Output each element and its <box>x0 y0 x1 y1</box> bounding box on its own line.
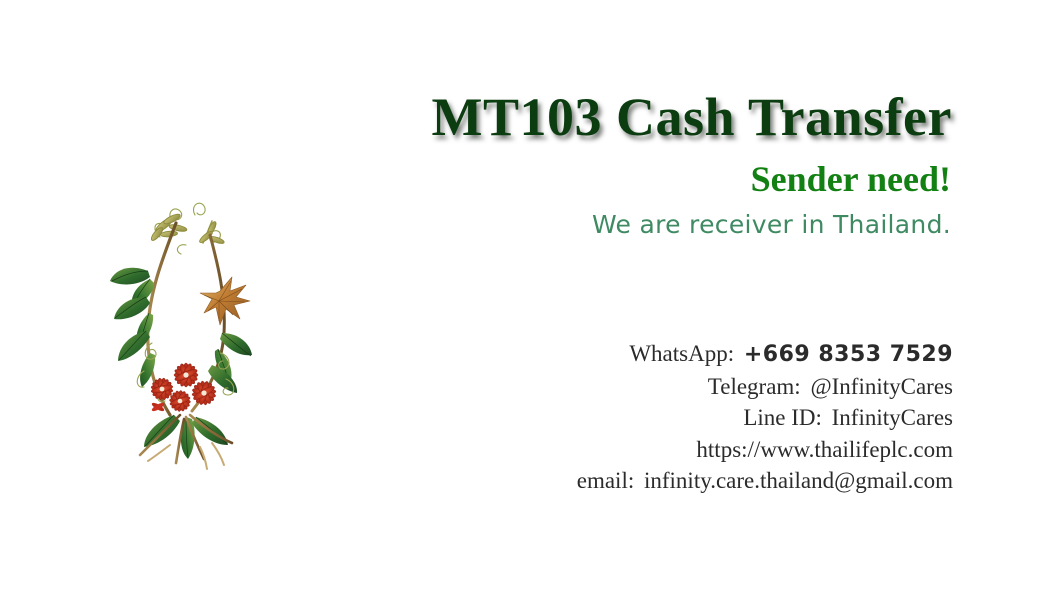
leaves-right <box>208 333 252 393</box>
page-subtitle: Sender need! <box>260 156 953 202</box>
page-tagline: We are receiver in Thailand. <box>260 208 953 242</box>
contact-line-whatsapp: WhatsApp: +669 8353 7529 <box>260 338 953 371</box>
flower <box>192 381 217 406</box>
text-block: MT103 Cash Transfer Sender need! We are … <box>260 86 953 497</box>
flower <box>174 363 199 388</box>
contact-label-telegram: Telegram: <box>708 374 801 399</box>
contact-line-email: email: infinity.care.thailand@gmail.com <box>260 465 953 497</box>
contact-value-email[interactable]: infinity.care.thailand@gmail.com <box>644 468 953 493</box>
poster-canvas: MT103 Cash Transfer Sender need! We are … <box>0 0 1063 600</box>
contact-block: WhatsApp: +669 8353 7529 Telegram: @Infi… <box>260 338 953 497</box>
contact-value-lineid[interactable]: InfinityCares <box>832 405 953 430</box>
contact-label-whatsapp: WhatsApp: <box>629 341 734 366</box>
contact-value-telegram[interactable]: @InfinityCares <box>810 374 953 399</box>
page-title: MT103 Cash Transfer <box>260 86 953 148</box>
contact-line-lineid: Line ID: InfinityCares <box>260 402 953 434</box>
leaves-left <box>110 268 155 387</box>
red-flower-cluster <box>151 363 217 413</box>
contact-value-website[interactable]: https://www.thailifeplc.com <box>696 437 953 462</box>
seed-pods <box>150 212 225 245</box>
contact-line-telegram: Telegram: @InfinityCares <box>260 371 953 403</box>
contact-label-email: email: <box>577 468 634 493</box>
contact-line-website: https://www.thailifeplc.com <box>260 434 953 466</box>
flower-bud <box>151 401 166 412</box>
flower <box>169 390 191 412</box>
contact-label-lineid: Line ID: <box>743 405 822 430</box>
contact-value-whatsapp[interactable]: +669 8353 7529 <box>744 342 953 367</box>
floral-botanical-illustration <box>100 193 260 473</box>
